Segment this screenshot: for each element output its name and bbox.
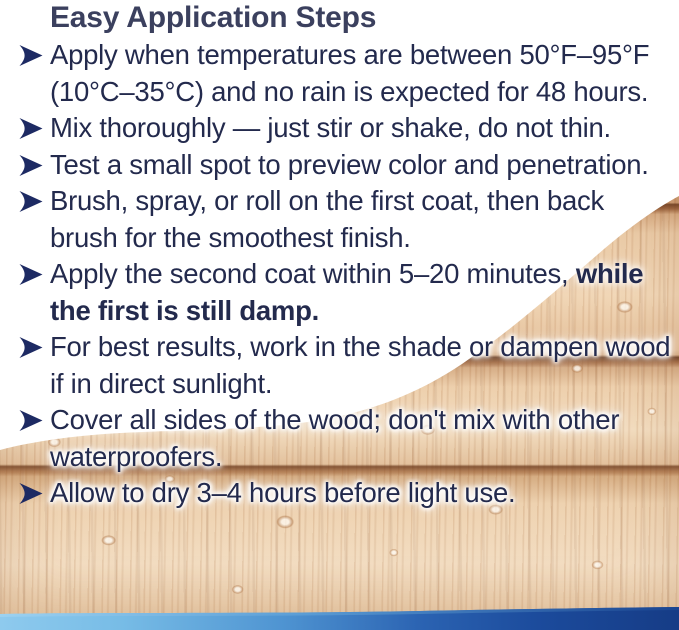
list-item-step-second-coat: Apply the second coat within 5–20 minute… (0, 256, 673, 329)
step-text: Allow to dry 3–4 hours before light use. (50, 477, 515, 508)
steps-list: Apply when temperatures are between 50°F… (0, 37, 679, 512)
arrow-right-triangle-icon (18, 263, 44, 286)
step-text: For best results, work in the shade or d… (50, 331, 670, 399)
list-item-step-shade: For best results, work in the shade or d… (0, 329, 673, 402)
list-item-step-mix: Mix thoroughly — just stir or shake, do … (0, 110, 673, 147)
poster-content: Easy Application Steps Apply when temper… (0, 0, 679, 512)
arrow-right-triangle-icon (18, 154, 44, 177)
step-text: Cover all sides of the wood; don't mix w… (50, 404, 619, 472)
step-text: Test a small spot to preview color and p… (50, 149, 649, 180)
list-item-step-dry-time: Allow to dry 3–4 hours before light use. (0, 475, 673, 512)
arrow-right-triangle-icon (18, 190, 44, 213)
step-text: Brush, spray, or roll on the first coat,… (50, 185, 604, 253)
application-steps-poster: Easy Application Steps Apply when temper… (0, 0, 679, 630)
step-text: Apply when temperatures are between 50°F… (50, 39, 649, 107)
page-title: Easy Application Steps (0, 0, 679, 37)
list-item-step-first-coat: Brush, spray, or roll on the first coat,… (0, 183, 673, 256)
bottom-blue-band (0, 600, 679, 630)
list-item-step-cover-sides: Cover all sides of the wood; don't mix w… (0, 402, 673, 475)
step-text: Mix thoroughly — just stir or shake, do … (50, 112, 611, 143)
list-item-step-temperature: Apply when temperatures are between 50°F… (0, 37, 673, 110)
arrow-right-triangle-icon (18, 482, 44, 505)
arrow-right-triangle-icon (18, 409, 44, 432)
arrow-right-triangle-icon (18, 117, 44, 140)
arrow-right-triangle-icon (18, 44, 44, 67)
list-item-step-test-spot: Test a small spot to preview color and p… (0, 147, 673, 184)
step-text: Apply the second coat within 5–20 minute… (50, 258, 576, 289)
arrow-right-triangle-icon (18, 336, 44, 359)
